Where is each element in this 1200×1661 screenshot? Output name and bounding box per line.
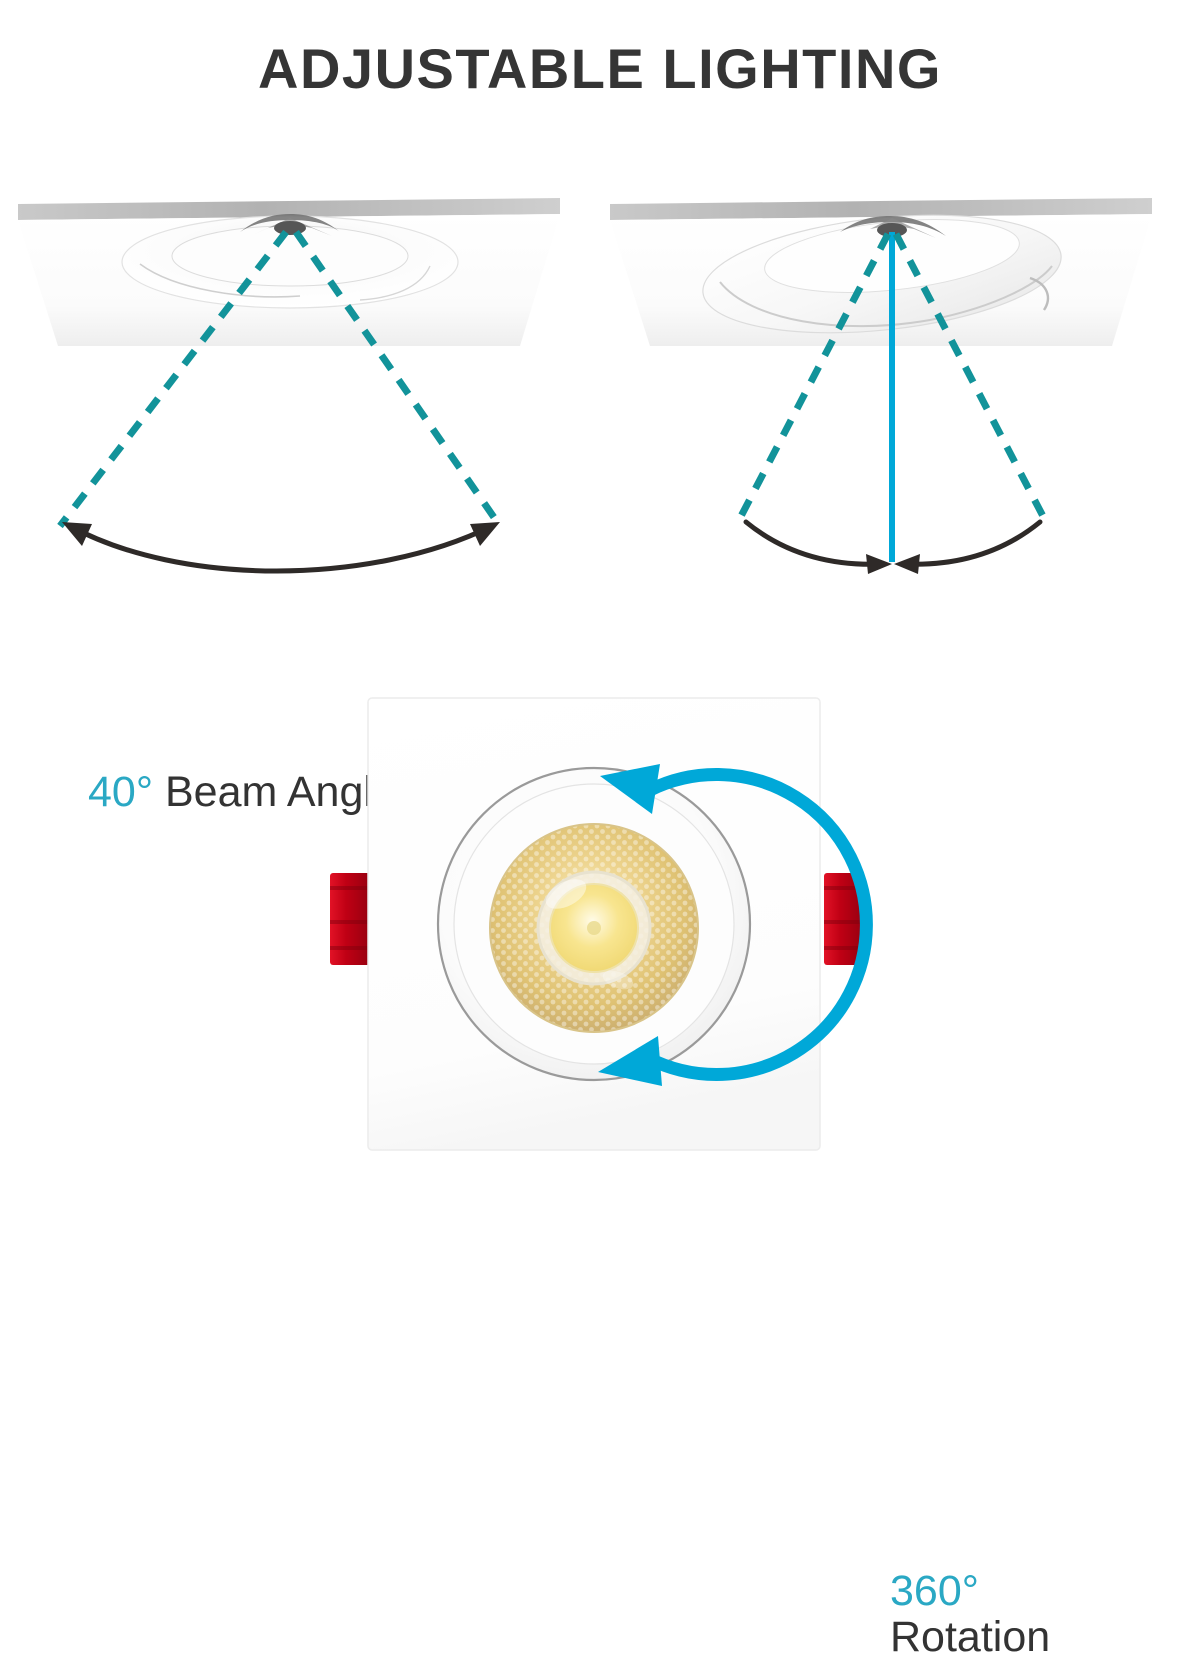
rotation-illustration	[0, 680, 1200, 1200]
rotation-label: Rotation	[890, 1614, 1050, 1660]
rotation-caption: 360° Rotation	[890, 1568, 1050, 1661]
spring-clip-left	[330, 873, 370, 965]
rotation-panel: 360° Rotation	[0, 680, 1200, 1200]
led-lens	[490, 824, 698, 1032]
tilt-range-panel: 15° 15° 15° Tilt Range	[600, 170, 1200, 670]
page-title: ADJUSTABLE LIGHTING	[0, 36, 1200, 101]
beam-span-arrow	[62, 522, 500, 571]
infographic-canvas: ADJUSTABLE LIGHTING	[0, 0, 1200, 1200]
beam-angle-panel: 40° Beam Angle	[0, 170, 600, 670]
beam-angle-illustration	[0, 170, 600, 670]
tilt-range-illustration	[600, 170, 1200, 670]
rotation-value: 360°	[890, 1568, 1050, 1614]
